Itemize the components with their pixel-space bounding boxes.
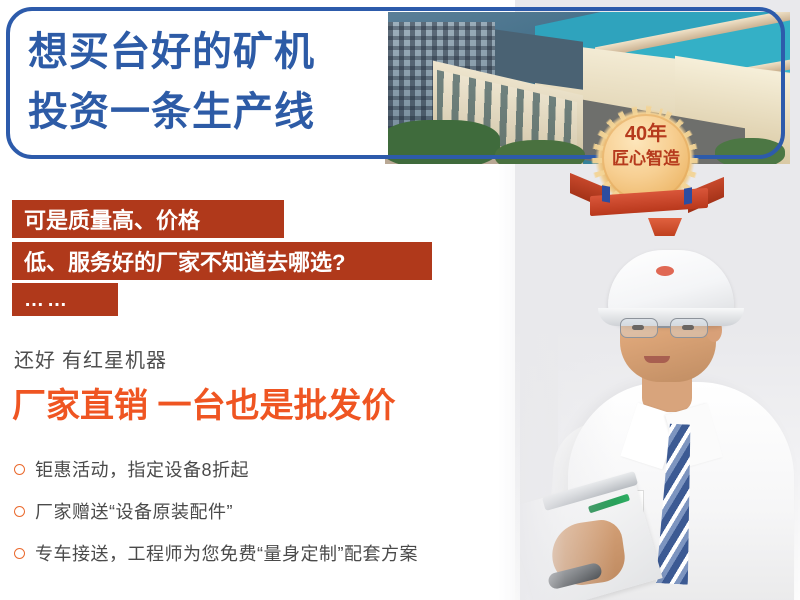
- ribbon-pin-right: [684, 187, 692, 204]
- headline-line-1: 想买台好的矿机: [28, 29, 315, 74]
- badge-slogan: 匠心智造: [602, 147, 690, 171]
- bullet-circle-icon: [14, 506, 25, 517]
- red-bar-2-text: 低、服务好的厂家不知道去哪选?: [24, 245, 345, 277]
- red-bar-2: 低、服务好的厂家不知道去哪选?: [12, 242, 432, 280]
- badge-text: 40年 匠心智造: [602, 122, 690, 171]
- photo-trees-1: [385, 120, 500, 164]
- list-item: 专车接送，工程师为您免费“量身定制”配套方案: [14, 532, 514, 574]
- subline: 还好 有红星机器: [14, 344, 414, 373]
- badge-years: 40年: [602, 122, 690, 147]
- engineer-photo-fade: [520, 232, 800, 600]
- ribbon-icon: [572, 172, 724, 230]
- headline: 想买台好的矿机 投资一条生产线: [28, 22, 388, 142]
- list-item-label: 钜惠活动，指定设备8折起: [35, 456, 249, 482]
- bullet-circle-icon: [14, 464, 25, 475]
- red-bar-3: ……: [12, 283, 118, 316]
- orange-headline: 厂家直销 一台也是批发价: [12, 378, 482, 427]
- photo-trees-2: [495, 140, 585, 164]
- engineer-photo: [520, 232, 800, 600]
- list-item-label: 厂家赠送“设备原装配件”: [35, 498, 233, 524]
- red-bar-1-text: 可是质量高、价格: [24, 203, 200, 235]
- photo-trees-3: [715, 138, 785, 164]
- red-bar-1: 可是质量高、价格: [12, 200, 284, 238]
- benefits-list: 钜惠活动，指定设备8折起 厂家赠送“设备原装配件” 专车接送，工程师为您免费“量…: [14, 448, 514, 574]
- ribbon-pin-left: [602, 185, 610, 202]
- red-bar-3-text: ……: [24, 295, 70, 305]
- headline-line-2: 投资一条生产线: [28, 82, 388, 142]
- list-item: 厂家赠送“设备原装配件”: [14, 490, 514, 532]
- promo-banner: 想买台好的矿机 投资一条生产线 40年 匠心智造 可是质量高、价格 低、服务好的…: [0, 0, 800, 600]
- list-item-label: 专车接送，工程师为您免费“量身定制”配套方案: [35, 540, 418, 566]
- list-item: 钜惠活动，指定设备8折起: [14, 448, 514, 490]
- anniversary-badge: 40年 匠心智造: [586, 100, 704, 218]
- bullet-circle-icon: [14, 548, 25, 559]
